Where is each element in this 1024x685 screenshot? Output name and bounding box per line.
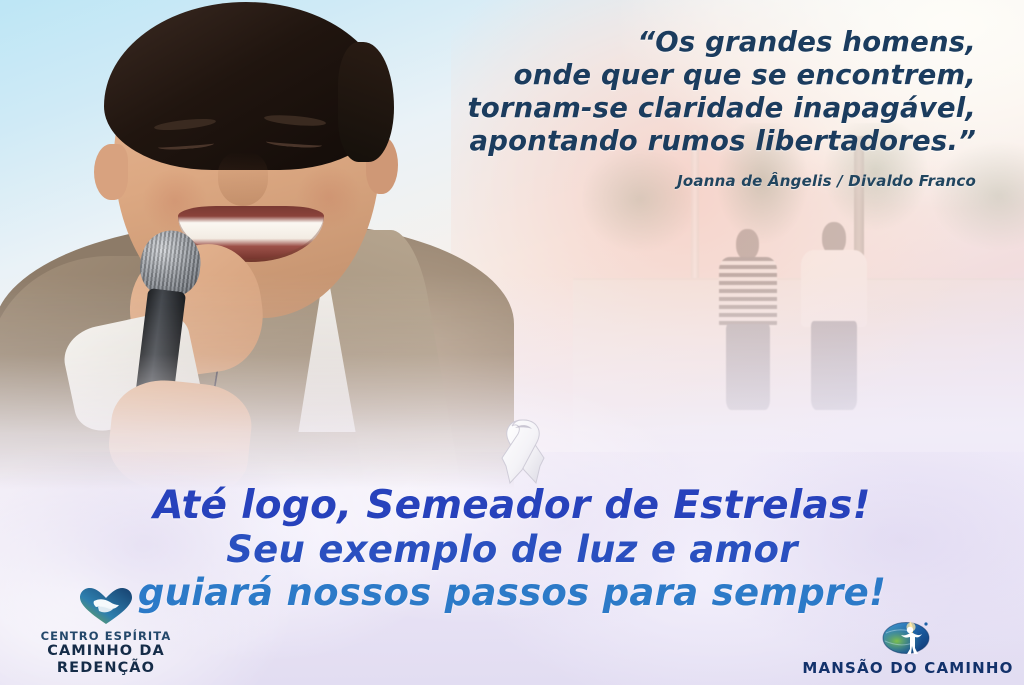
portrait-nose (218, 152, 268, 206)
logo-centro-espirita-line-1: CENTRO ESPÍRITA (8, 629, 204, 643)
background-person-head (736, 229, 759, 261)
quote-line-1: “Os grandes homens, (416, 26, 976, 59)
quote-attribution: Joanna de Ângelis / Divaldo Franco (416, 172, 976, 190)
quote-line-3: tornam-se claridade inapagável, (416, 92, 976, 125)
logo-mansao-do-caminho: MANSÃO DO CAMINHO (800, 613, 1016, 677)
quote-line-2: onde quer que se encontrem, (416, 59, 976, 92)
heart-hands-icon (78, 587, 134, 625)
quote-line-4: apontando rumos libertadores.” (416, 125, 976, 158)
logo-mansao-do-caminho-label: MANSÃO DO CAMINHO (800, 659, 1016, 677)
logo-centro-espirita: CENTRO ESPÍRITA CAMINHO DA REDENÇÃO (8, 587, 204, 677)
portrait-hair (104, 2, 388, 170)
mourning-ribbon-icon (484, 408, 562, 486)
globe-figure-icon (879, 613, 937, 655)
microphone-head (137, 227, 205, 300)
logo-centro-espirita-line-2: CAMINHO DA REDENÇÃO (8, 643, 204, 677)
tribute-poster: “Os grandes homens, onde quer que se enc… (0, 0, 1024, 685)
tribute-message-line-2: Seu exemplo de luz e amor (0, 528, 1024, 571)
portrait-ear-left (94, 144, 128, 200)
tribute-message-line-1: Até logo, Semeador de Estrelas! (0, 484, 1024, 528)
quote-block: “Os grandes homens, onde quer que se enc… (416, 26, 976, 158)
